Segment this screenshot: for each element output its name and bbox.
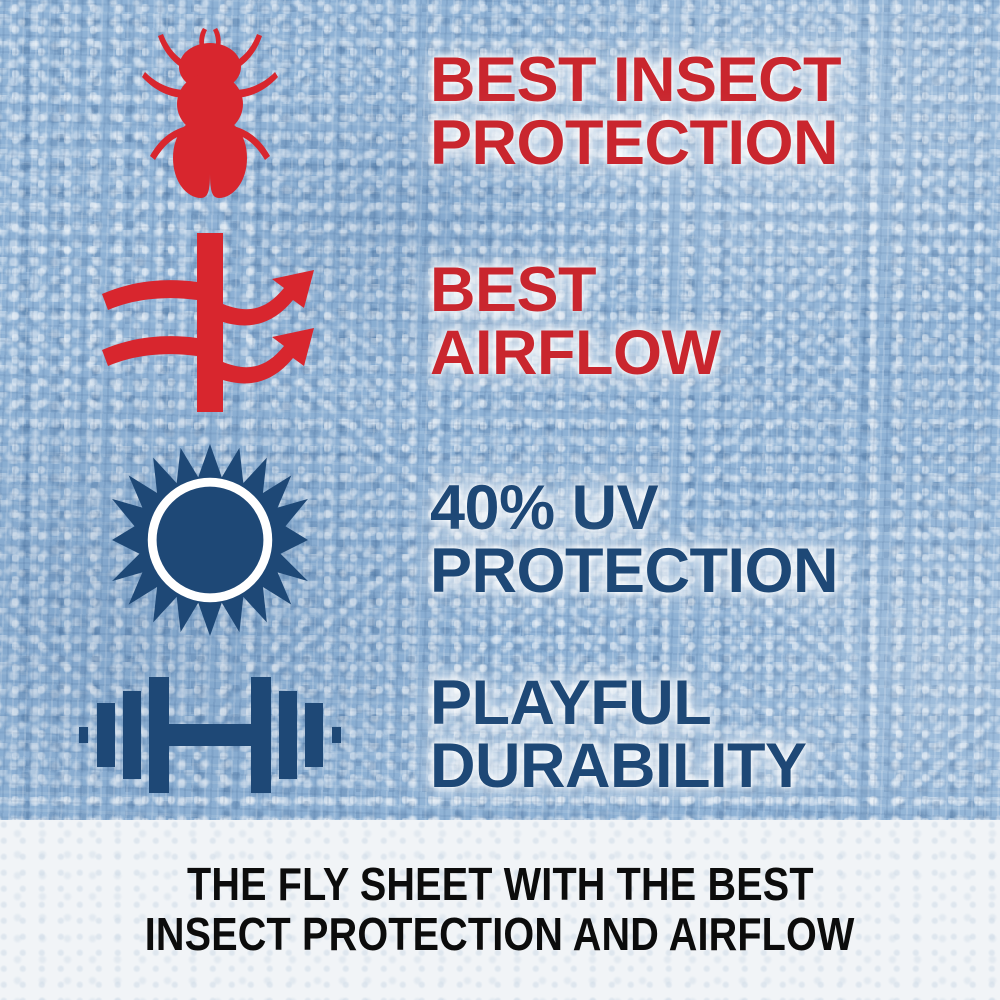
footer-caption-band: THE FLY SHEET WITH THE BEST INSECT PROTE… (0, 820, 1000, 1000)
feature-row-airflow: BEST AIRFLOW (0, 222, 1000, 422)
feature-row-insect-protection: BEST INSECT PROTECTION (0, 12, 1000, 212)
dumbbell-icon (79, 674, 341, 796)
dumbbell-icon-cell (0, 674, 420, 796)
feature-line-2: DURABILITY (430, 735, 1000, 798)
footer-line-2: INSECT PROTECTION AND AIRFLOW (145, 910, 855, 960)
feature-line-1: BEST (430, 259, 1000, 322)
footer-line-1: THE FLY SHEET WITH THE BEST (187, 860, 814, 910)
feature-line-1: BEST INSECT (430, 49, 1000, 112)
feature-line-1: PLAYFUL (430, 672, 1000, 735)
feature-line-1: 40% UV (430, 477, 1000, 540)
feature-row-durability: PLAYFUL DURABILITY (0, 655, 1000, 815)
insect-protection-text: BEST INSECT PROTECTION (420, 49, 1000, 175)
airflow-icon (100, 230, 320, 415)
durability-text: PLAYFUL DURABILITY (420, 672, 1000, 798)
sun-uv-icon-cell (0, 442, 420, 638)
uv-protection-text: 40% UV PROTECTION (420, 477, 1000, 603)
feature-panel: BEST INSECT PROTECTION (0, 0, 1000, 820)
feature-line-2: PROTECTION (430, 540, 1000, 603)
airflow-icon-cell (0, 230, 420, 415)
feature-row-uv-protection: 40% UV PROTECTION (0, 440, 1000, 640)
sun-uv-icon (112, 442, 308, 638)
airflow-text: BEST AIRFLOW (420, 259, 1000, 385)
product-feature-poster: BEST INSECT PROTECTION (0, 0, 1000, 1000)
feature-line-2: AIRFLOW (430, 322, 1000, 385)
feature-line-2: PROTECTION (430, 112, 1000, 175)
fly-icon-cell (0, 20, 420, 205)
fly-icon (135, 20, 285, 205)
